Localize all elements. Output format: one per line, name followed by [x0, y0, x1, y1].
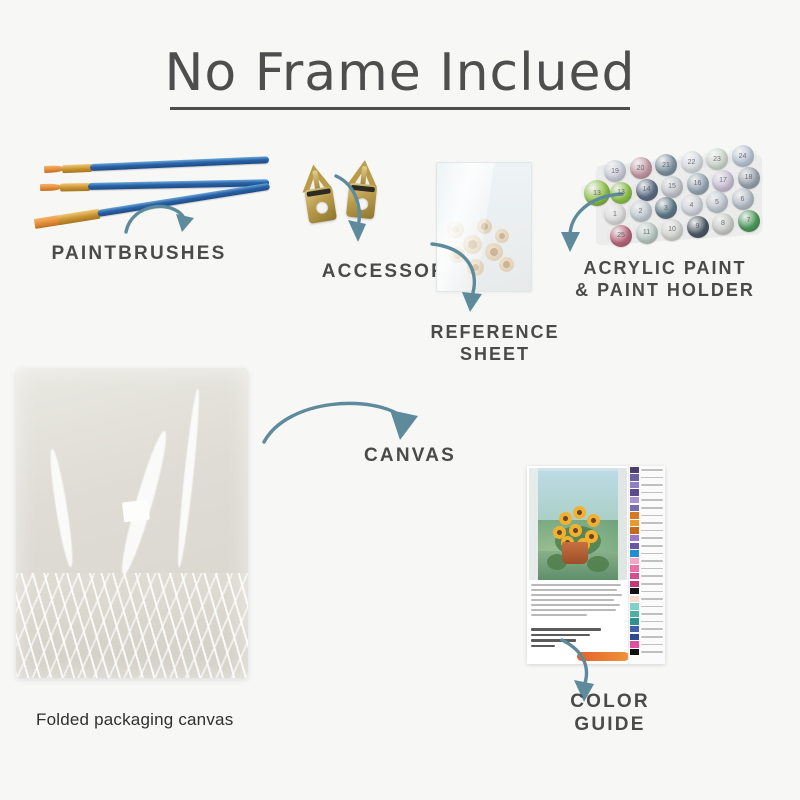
- paint-pot: 4: [681, 194, 703, 216]
- color-swatch-label: [641, 530, 663, 532]
- color-swatch-row: [629, 633, 665, 641]
- color-swatch-row: [629, 519, 665, 527]
- color-swatch-row: [629, 496, 665, 504]
- color-swatch-row: [629, 534, 665, 542]
- folded-canvas-icon: [16, 368, 248, 678]
- color-swatch-label: [641, 621, 663, 623]
- color-swatch-row: [629, 588, 665, 596]
- color-swatch-chip: [630, 626, 639, 632]
- color-swatch-chip: [630, 505, 639, 511]
- color-swatch-chip: [630, 618, 639, 624]
- color-swatch-row: [629, 474, 665, 482]
- color-swatch-chip: [630, 497, 639, 503]
- color-swatch-strip: [628, 466, 665, 664]
- color-swatch-label: [641, 545, 663, 547]
- color-swatch-label: [641, 591, 663, 593]
- color-swatch-chip: [630, 527, 639, 533]
- label-canvas: CANVAS: [310, 444, 510, 467]
- paint-pot: 23: [706, 148, 728, 170]
- color-swatch-row: [629, 603, 665, 611]
- color-guide-icon: [527, 466, 665, 664]
- color-swatch-row: [629, 481, 665, 489]
- color-swatch-label: [641, 636, 663, 638]
- color-swatch-chip: [630, 596, 639, 602]
- color-swatch-label: [641, 575, 663, 577]
- color-swatch-label: [641, 477, 663, 479]
- color-swatch-chip: [630, 573, 639, 579]
- color-swatch-label: [641, 568, 663, 570]
- color-swatch-chip: [630, 649, 639, 655]
- paint-pot: 10: [661, 219, 683, 241]
- paint-pot: 14: [636, 179, 658, 201]
- title-underline: [170, 107, 630, 110]
- paint-pot: 7: [738, 210, 760, 232]
- color-swatch-chip: [630, 474, 639, 480]
- color-swatch-row: [629, 580, 665, 588]
- color-swatch-chip: [630, 565, 639, 571]
- label-color-guide: COLOR GUIDE: [500, 690, 720, 736]
- paint-pot: 9: [687, 216, 709, 238]
- arrow-to-canvas: [258, 392, 428, 448]
- color-swatch-label: [641, 651, 663, 653]
- label-paintbrushes: PAINTBRUSHES: [0, 242, 278, 265]
- arrow-to-reference-sheet: [428, 238, 498, 320]
- color-swatch-row: [629, 565, 665, 573]
- paint-pot: 3: [655, 197, 677, 219]
- color-swatch-chip: [630, 611, 639, 617]
- color-swatch-label: [641, 628, 663, 630]
- color-swatch-row: [629, 625, 665, 633]
- paint-pot: 15: [661, 176, 683, 198]
- color-swatch-label: [641, 537, 663, 539]
- paint-pot: 24: [732, 145, 754, 167]
- color-swatch-chip: [630, 489, 639, 495]
- color-swatch-label: [641, 598, 663, 600]
- color-swatch-chip: [630, 550, 639, 556]
- paint-pot: 19: [604, 160, 626, 182]
- color-swatch-label: [641, 522, 663, 524]
- color-swatch-row: [629, 512, 665, 520]
- color-swatch-row: [629, 641, 665, 649]
- color-swatch-row: [629, 618, 665, 626]
- paint-pot: 20: [630, 157, 652, 179]
- color-swatch-row: [629, 648, 665, 656]
- color-swatch-chip: [630, 558, 639, 564]
- color-swatch-chip: [630, 588, 639, 594]
- color-swatch-chip: [630, 482, 639, 488]
- color-swatch-row: [629, 572, 665, 580]
- paint-pot: 16: [687, 173, 709, 195]
- color-swatch-chip: [630, 634, 639, 640]
- paint-pot: 11: [636, 222, 658, 244]
- color-swatch-label: [641, 560, 663, 562]
- color-swatch-label: [641, 583, 663, 585]
- paint-pot: 2: [630, 200, 652, 222]
- title-block: No Frame Inclued: [0, 46, 800, 110]
- color-swatch-label: [641, 484, 663, 486]
- label-reference-sheet: REFERENCE SHEET: [370, 322, 620, 366]
- infographic-canvas: No Frame Inclued PAINTBRUSHES: [0, 0, 800, 800]
- color-swatch-row: [629, 527, 665, 535]
- color-swatch-row: [629, 550, 665, 558]
- color-swatch-label: [641, 469, 663, 471]
- color-swatch-row: [629, 489, 665, 497]
- color-swatch-label: [641, 499, 663, 501]
- paint-pot: 22: [681, 151, 703, 173]
- paint-pot: 8: [712, 213, 734, 235]
- color-swatch-label: [641, 606, 663, 608]
- paint-pot: 5: [706, 191, 728, 213]
- paint-pot: 18: [738, 167, 760, 189]
- color-swatch-row: [629, 466, 665, 474]
- color-swatch-label: [641, 644, 663, 646]
- color-guide-instructions: [531, 584, 625, 619]
- paint-pot: 21: [655, 154, 677, 176]
- color-swatch-chip: [630, 603, 639, 609]
- color-guide-artwork: [529, 468, 627, 580]
- color-swatch-label: [641, 492, 663, 494]
- color-swatch-chip: [630, 641, 639, 647]
- color-swatch-row: [629, 595, 665, 603]
- label-acrylic-paint: ACRYLIC PAINT & PAINT HOLDER: [530, 258, 800, 302]
- arrow-to-acrylic-paint: [560, 188, 628, 260]
- page-title: No Frame Inclued: [0, 46, 800, 101]
- color-swatch-label: [641, 507, 663, 509]
- arrow-to-accessories: [332, 172, 384, 246]
- arrow-to-paintbrushes: [118, 192, 198, 244]
- color-swatch-label: [641, 515, 663, 517]
- color-swatch-chip: [630, 581, 639, 587]
- color-swatch-chip: [630, 520, 639, 526]
- paint-pot: 6: [732, 188, 754, 210]
- color-swatch-chip: [630, 512, 639, 518]
- caption-folded-canvas: Folded packaging canvas: [36, 710, 336, 730]
- color-swatch-row: [629, 610, 665, 618]
- paint-pot: 17: [712, 170, 734, 192]
- color-swatch-label: [641, 613, 663, 615]
- color-swatch-label: [641, 553, 663, 555]
- color-swatch-row: [629, 542, 665, 550]
- color-swatch-row: [629, 557, 665, 565]
- color-swatch-chip: [630, 543, 639, 549]
- color-swatch-chip: [630, 467, 639, 473]
- color-swatch-chip: [630, 535, 639, 541]
- color-swatch-row: [629, 504, 665, 512]
